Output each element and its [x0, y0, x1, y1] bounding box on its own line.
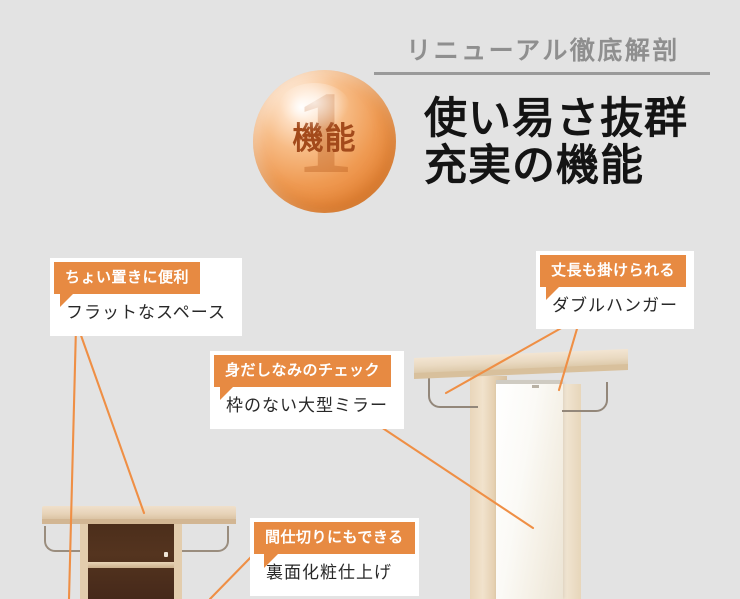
- callout-flat-space-sub: フラットなスペース: [54, 294, 238, 332]
- callout-mirror-shell: 身だしなみのチェック 枠のない大型ミラー: [210, 351, 404, 429]
- callout-flat-space-shell: ちょい置きに便利 フラットなスペース: [50, 258, 242, 336]
- callout-mirror-sub: 枠のない大型ミラー: [214, 387, 400, 425]
- badge-label: 機能: [253, 122, 396, 156]
- infographic-canvas: リニューアル徹底解剖 使い易さ抜群 充実の機能 1 機能 ちょい置きに便利 フラ…: [0, 0, 740, 599]
- callout-double-hanger-tag: 丈長も掛けられる: [540, 255, 686, 287]
- callout-tail-icon: [220, 387, 233, 400]
- callout-mirror: 身だしなみのチェック 枠のない大型ミラー: [210, 351, 404, 429]
- callout-tail-icon: [60, 294, 73, 307]
- callout-mirror-tag: 身だしなみのチェック: [214, 355, 391, 387]
- headline-line-1: 使い易さ抜群: [424, 96, 688, 143]
- callout-room-divider-tag: 間仕切りにもできる: [254, 522, 415, 554]
- callout-double-hanger-sub: ダブルハンガー: [540, 287, 690, 325]
- kicker-underline: [374, 72, 710, 75]
- feature-number-badge: 1 機能: [253, 70, 396, 213]
- callout-room-divider: 間仕切りにもできる 裏面化粧仕上げ: [250, 518, 419, 596]
- callout-flat-space-tag: ちょい置きに便利: [54, 262, 200, 294]
- callout-room-divider-shell: 間仕切りにもできる 裏面化粧仕上げ: [250, 518, 419, 596]
- callout-double-hanger: 丈長も掛けられる ダブルハンガー: [536, 251, 694, 329]
- callout-flat-space: ちょい置きに便利 フラットなスペース: [50, 258, 242, 336]
- page-title: 使い易さ抜群 充実の機能: [424, 96, 688, 190]
- callout-double-hanger-shell: 丈長も掛けられる ダブルハンガー: [536, 251, 694, 329]
- text-layer: リニューアル徹底解剖 使い易さ抜群 充実の機能 1 機能 ちょい置きに便利 フラ…: [0, 0, 740, 599]
- callout-tail-icon: [264, 554, 278, 568]
- callout-room-divider-sub: 裏面化粧仕上げ: [254, 554, 415, 592]
- callout-tail-icon: [546, 287, 559, 300]
- headline-line-2: 充実の機能: [424, 143, 688, 190]
- kicker-text: リニューアル徹底解剖: [374, 36, 712, 66]
